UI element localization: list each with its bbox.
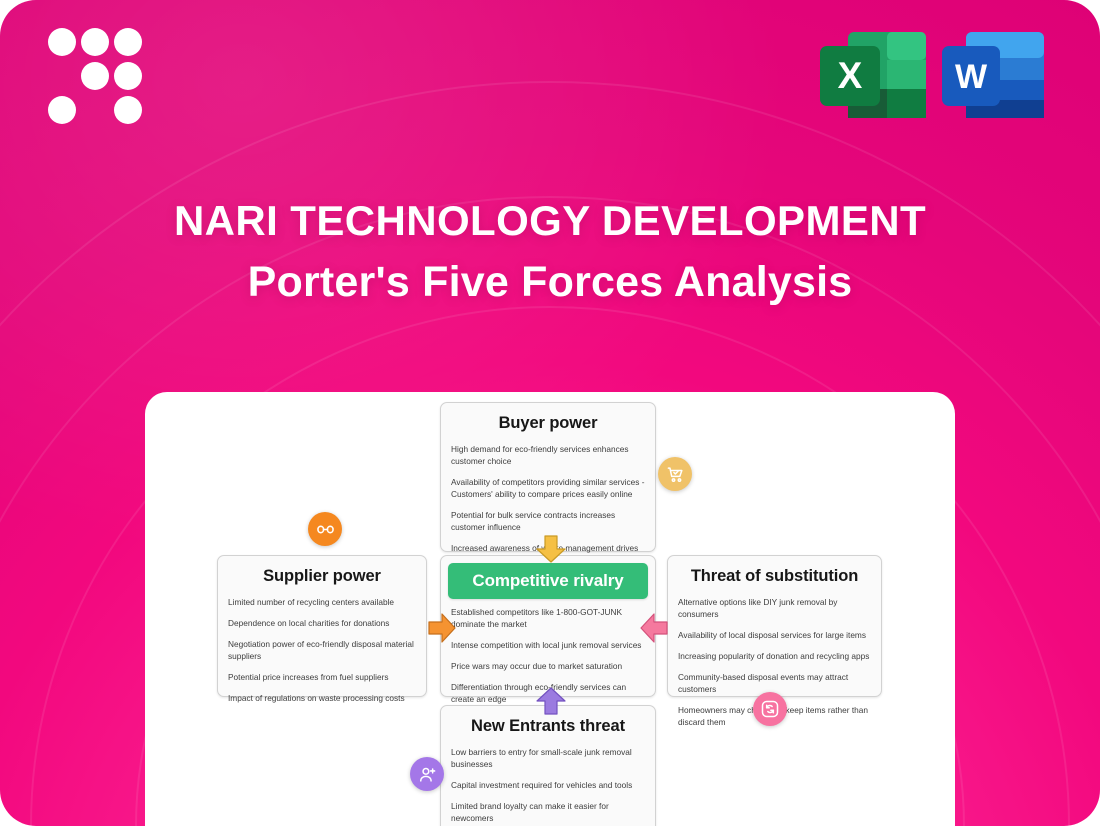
force-title-substitution: Threat of substitution	[668, 556, 881, 592]
dots-grid-logo	[48, 28, 142, 124]
list-item: Potential price increases from fuel supp…	[228, 671, 416, 683]
arrow-substitution-to-rivalry	[640, 612, 668, 644]
list-item: Alternative options like DIY junk remova…	[678, 596, 871, 620]
svg-text:X: X	[838, 55, 863, 96]
list-item: Intense competition with local junk remo…	[451, 639, 645, 651]
force-title-supplier: Supplier power	[218, 556, 426, 592]
list-item: Negotiation power of eco-friendly dispos…	[228, 638, 416, 662]
list-item: Price wars may occur due to market satur…	[451, 660, 645, 672]
force-box-buyer[interactable]: Buyer power High demand for eco-friendly…	[440, 402, 656, 552]
list-item: Limited brand loyalty can make it easier…	[451, 800, 645, 824]
force-list-entrants: Low barriers to entry for small-scale ju…	[441, 742, 655, 826]
header-titles: NARI TECHNOLOGY DEVELOPMENT Porter's Fiv…	[0, 196, 1100, 307]
arrow-supplier-to-rivalry	[428, 612, 456, 644]
add-user-icon[interactable]	[410, 757, 444, 791]
list-item: Established competitors like 1-800-GOT-J…	[451, 606, 645, 630]
force-title-buyer: Buyer power	[441, 403, 655, 439]
list-item: Capital investment required for vehicles…	[451, 779, 645, 791]
list-item: Availability of local disposal services …	[678, 629, 871, 641]
force-box-entrants[interactable]: New Entrants threat Low barriers to entr…	[440, 705, 656, 826]
force-title-rivalry: Competitive rivalry	[448, 563, 648, 599]
list-item: Limited number of recycling centers avai…	[228, 596, 416, 608]
force-list-supplier: Limited number of recycling centers avai…	[218, 592, 426, 714]
shopping-cart-icon[interactable]	[658, 457, 692, 491]
list-item: Availability of competitors providing si…	[451, 476, 645, 500]
list-item: Potential for bulk service contracts inc…	[451, 509, 645, 533]
page-subtitle: Porter's Five Forces Analysis	[0, 258, 1100, 307]
force-box-supplier[interactable]: Supplier power Limited number of recycli…	[217, 555, 427, 697]
word-icon[interactable]: W	[942, 28, 1046, 122]
svg-text:W: W	[955, 58, 988, 96]
arrow-buyer-to-rivalry	[535, 535, 567, 563]
link-chain-icon[interactable]	[308, 512, 342, 546]
list-item: Low barriers to entry for small-scale ju…	[451, 746, 645, 770]
page-title: NARI TECHNOLOGY DEVELOPMENT	[0, 196, 1100, 246]
force-box-substitution[interactable]: Threat of substitution Alternative optio…	[667, 555, 882, 697]
list-item: High demand for eco-friendly services en…	[451, 443, 645, 467]
recycle-sync-icon[interactable]	[753, 692, 787, 726]
list-item: Community-based disposal events may attr…	[678, 671, 871, 695]
list-item: Impact of regulations on waste processin…	[228, 692, 416, 704]
arrow-entrants-to-rivalry	[535, 687, 567, 715]
slide-page: X W NARI TECHNOLOGY DEVELOPMENT Porter's…	[0, 0, 1100, 826]
force-box-rivalry[interactable]: Competitive rivalry Established competit…	[440, 555, 656, 697]
excel-icon[interactable]: X	[818, 28, 928, 122]
list-item: Dependence on local charities for donati…	[228, 617, 416, 629]
list-item: Increasing popularity of donation and re…	[678, 650, 871, 662]
diagram-canvas: Buyer power High demand for eco-friendly…	[145, 392, 955, 826]
